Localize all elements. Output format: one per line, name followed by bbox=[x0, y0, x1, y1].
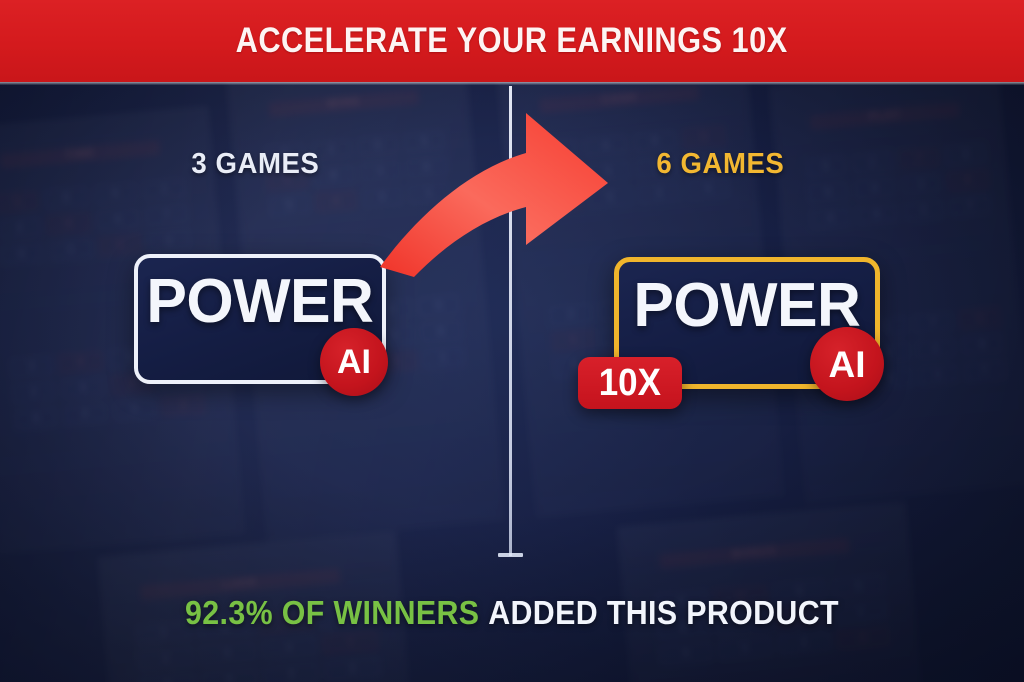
ai-badge-label: AI bbox=[337, 345, 371, 379]
ai-badge-left: AI bbox=[320, 328, 388, 396]
left-panel-label: 3 GAMES bbox=[191, 148, 319, 181]
ai-badge-label: AI bbox=[829, 346, 866, 383]
vertical-separator-cap bbox=[498, 553, 523, 557]
footer-plain-text: ADDED THIS PRODUCT bbox=[488, 594, 839, 631]
power-card-word: POWER bbox=[146, 271, 373, 333]
page-title: ACCELERATE YOUR EARNINGS 10X bbox=[236, 21, 788, 61]
multiplier-badge: 10X bbox=[578, 357, 682, 409]
promo-graphic: TIME WINS CASH PLAY LUCK BONUS 385129476… bbox=[0, 0, 1024, 682]
power-card-word: POWER bbox=[633, 275, 860, 337]
footer-highlight-text: 92.3% OF WINNERS bbox=[185, 594, 479, 631]
header-banner: ACCELERATE YOUR EARNINGS 10X bbox=[0, 0, 1024, 82]
right-panel-label: 6 GAMES bbox=[656, 148, 784, 181]
vertical-separator bbox=[509, 86, 512, 556]
ai-badge-right: AI bbox=[810, 327, 884, 401]
multiplier-badge-label: 10X bbox=[599, 364, 661, 402]
footer-caption: 92.3% OF WINNERS ADDED THIS PRODUCT bbox=[41, 594, 983, 632]
header-underline bbox=[0, 82, 1024, 85]
